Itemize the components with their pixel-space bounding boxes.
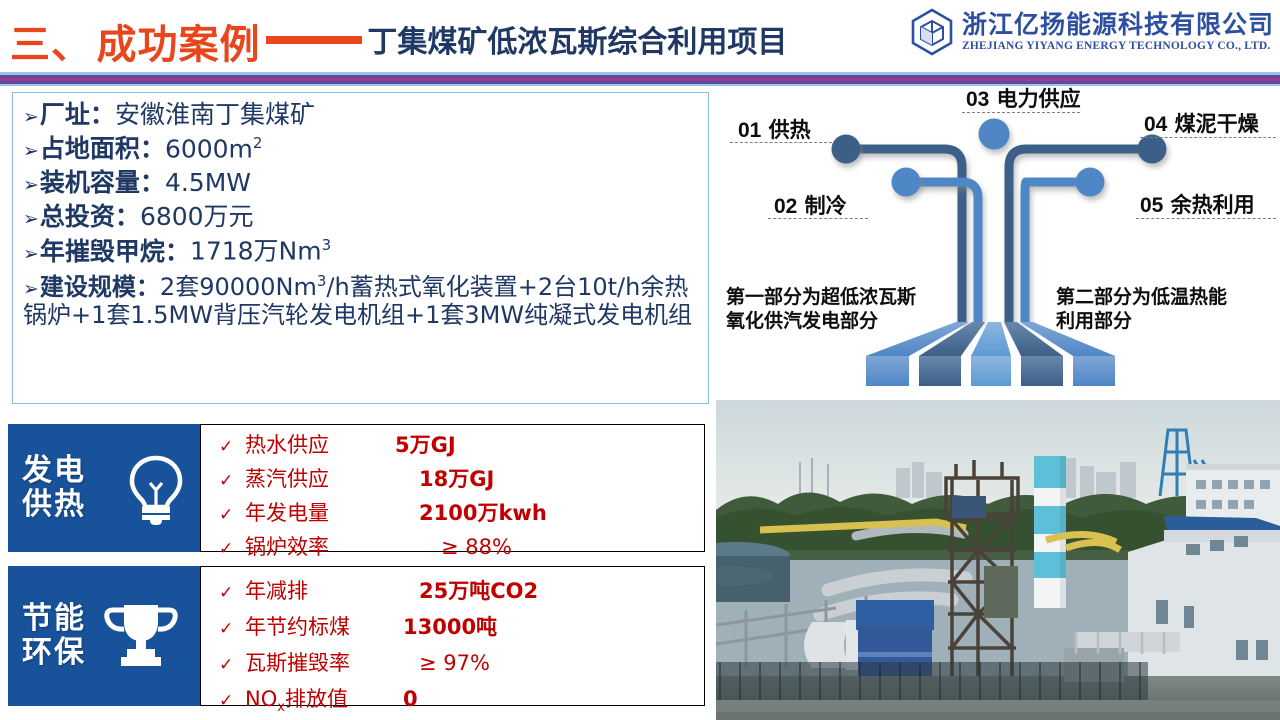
diagram-node-04	[1138, 135, 1167, 164]
diagram-label-03: 03 电力供应	[966, 86, 1081, 113]
bullet-arrow-icon: ➢	[23, 176, 39, 195]
metric-value: 18万GJ	[419, 469, 494, 490]
check-icon: ✓	[219, 693, 245, 710]
info-row-site: ➢ 厂址： 安徽淮南丁集煤矿	[23, 102, 698, 127]
metric-name: 热水供应	[245, 435, 395, 456]
metric-value: 5万GJ	[395, 435, 456, 456]
panel-body-energy-env: ✓ 年减排 25万吨CO2 ✓ 年节约标煤 13000吨 ✓ 瓦斯摧毁率 ≥ 9…	[200, 566, 705, 706]
panel-tag-label: 节能 环保	[22, 602, 86, 669]
metric-row: ✓ 瓦斯摧毁率 ≥ 97%	[219, 653, 704, 674]
company-name-cn: 浙江亿扬能源科技有限公司	[962, 12, 1274, 38]
check-icon: ✓	[219, 657, 245, 674]
header-divider-rule	[0, 72, 1280, 86]
metric-value: ≥ 97%	[419, 653, 490, 674]
title-dash-rule	[266, 36, 362, 44]
process-branch-diagram: 01 供热 02 制冷 03 电力供应 04 煤泥干燥 05 余热利用 第一部分…	[716, 86, 1280, 400]
diagram-label-04: 04 煤泥干燥	[1144, 108, 1259, 138]
slide-root: 三、 成功案例 丁集煤矿低浓瓦斯综合利用项目 浙江亿扬能源科技有限公司 ZHEJ…	[0, 0, 1280, 720]
check-icon: ✓	[219, 621, 245, 638]
metrics-panel-power-heat: 发电 供热 ✓ 热水供应 5万GJ ✓ 蒸汽供应	[8, 424, 708, 552]
company-name-block: 浙江亿扬能源科技有限公司 ZHEJIANG YIYANG ENERGY TECH…	[962, 12, 1274, 52]
diagram-note-right-line2: 利用部分	[1056, 310, 1227, 334]
info-value-part1: 2套90000Nm	[160, 273, 317, 301]
diagram-underline-01	[730, 142, 832, 143]
metric-name: 瓦斯摧毁率	[245, 653, 395, 674]
slide-header: 三、 成功案例 丁集煤矿低浓瓦斯综合利用项目 浙江亿扬能源科技有限公司 ZHEJ…	[0, 0, 1280, 72]
metric-row: ✓ NOx排放值 0	[219, 689, 704, 714]
diagram-underline-03	[962, 112, 1080, 113]
metric-name: 年减排	[245, 581, 395, 602]
panel-body-power-heat: ✓ 热水供应 5万GJ ✓ 蒸汽供应 18万GJ ✓ 年发电量 2100万kwh…	[200, 424, 705, 552]
info-value-sup: 2	[253, 134, 263, 152]
info-row-capacity: ➢ 装机容量： 4.5MW	[23, 170, 698, 195]
bullet-arrow-icon: ➢	[23, 142, 39, 161]
bullet-arrow-icon: ➢	[23, 210, 39, 229]
check-icon: ✓	[219, 507, 245, 524]
industrial-plant-photo	[716, 400, 1280, 720]
metric-name: NOx排放值	[245, 689, 395, 714]
panel-tag-line1: 发电	[22, 454, 86, 488]
diagram-node-05	[1076, 168, 1105, 197]
info-label: 厂址：	[40, 102, 115, 127]
panel-tag-energy-env: 节能 环保	[8, 566, 200, 706]
diagram-label-01: 01 供热	[738, 114, 811, 144]
info-value: 安徽淮南丁集煤矿	[115, 102, 315, 127]
diagram-label-05: 05 余热利用	[1140, 189, 1255, 219]
diagram-note-left-line2: 氧化供汽发电部分	[726, 310, 916, 334]
panel-tag-line1: 节能	[22, 602, 86, 636]
page-title: 三、 成功案例 丁集煤矿低浓瓦斯综合利用项目	[10, 12, 787, 70]
diagram-note-left: 第一部分为超低浓瓦斯 氧化供汽发电部分	[726, 286, 916, 334]
info-row-methane: ➢ 年摧毁甲烷： 1718万Nm3	[23, 238, 698, 263]
metric-value: 25万吨CO2	[419, 581, 538, 602]
metric-row: ✓ 锅炉效率 ≥ 88%	[219, 537, 704, 558]
bullet-arrow-icon: ➢	[23, 278, 39, 300]
metric-value: 13000吨	[403, 617, 497, 638]
section-number: 三、	[10, 22, 92, 68]
check-icon: ✓	[219, 473, 245, 490]
trophy-icon	[100, 602, 182, 673]
info-value: 6800万元	[140, 204, 254, 229]
check-icon: ✓	[219, 439, 245, 456]
metric-row: ✓ 年减排 25万吨CO2	[219, 581, 704, 602]
metric-row: ✓ 年节约标煤 13000吨	[219, 617, 704, 638]
lightbulb-icon	[126, 454, 186, 531]
check-icon: ✓	[219, 585, 245, 602]
diagram-underline-04	[1140, 137, 1276, 138]
metric-name: 蒸汽供应	[245, 469, 395, 490]
diagram-note-left-line1: 第一部分为超低浓瓦斯	[726, 286, 916, 310]
bullet-arrow-icon: ➢	[23, 108, 39, 127]
metric-row: ✓ 蒸汽供应 18万GJ	[219, 469, 704, 490]
info-label: 装机容量：	[40, 170, 165, 195]
info-value: 1718万Nm3	[190, 238, 331, 263]
info-label: 年摧毁甲烷：	[40, 239, 190, 264]
info-value-sup: 3	[322, 236, 332, 254]
info-row-scale: ➢建设规模：2套90000Nm3/h蓄热式氧化装置+2台10t/h余热锅炉+1套…	[23, 273, 698, 330]
metric-row: ✓ 热水供应 5万GJ	[219, 435, 704, 456]
bullet-arrow-icon: ➢	[23, 245, 39, 264]
project-info-box: ➢ 厂址： 安徽淮南丁集煤矿 ➢ 占地面积： 6000m2 ➢ 装机容量： 4.…	[12, 92, 709, 404]
panel-tag-power-heat: 发电 供热	[8, 424, 200, 552]
panel-tag-label: 发电 供热	[22, 454, 86, 521]
info-row-investment: ➢ 总投资： 6800万元	[23, 204, 698, 229]
diagram-note-right: 第二部分为低温热能 利用部分	[1056, 286, 1227, 334]
info-value: 4.5MW	[165, 170, 251, 195]
panel-tag-line2: 环保	[22, 636, 86, 670]
info-value: 6000m2	[165, 136, 263, 161]
metric-value: ≥ 88%	[441, 537, 512, 558]
hexagon-cube-logo-icon	[910, 8, 954, 56]
metric-row: ✓ 年发电量 2100万kwh	[219, 503, 704, 524]
info-label: 总投资：	[40, 204, 140, 229]
diagram-node-03	[979, 119, 1010, 150]
info-label: 建设规模：	[40, 273, 160, 301]
diagram-label-02: 02 制冷	[774, 190, 847, 220]
section-title: 成功案例	[96, 22, 260, 68]
metric-name: 年节约标煤	[245, 617, 395, 638]
metric-value: 0	[403, 689, 418, 710]
info-row-area: ➢ 占地面积： 6000m2	[23, 136, 698, 161]
metric-name: 年发电量	[245, 503, 395, 524]
check-icon: ✓	[219, 541, 245, 558]
diagram-node-02	[892, 168, 921, 197]
metrics-panel-energy-env: 节能 环保 ✓ 年减排 25万吨CO2 ✓	[8, 566, 708, 706]
info-value-sup: 3	[317, 272, 327, 290]
diagram-note-right-line1: 第二部分为低温热能	[1056, 286, 1227, 310]
company-name-en: ZHEJIANG YIYANG ENERGY TECHNOLOGY CO., L…	[962, 40, 1274, 52]
diagram-underline-05	[1136, 218, 1276, 219]
diagram-node-01	[832, 135, 861, 164]
panel-tag-line2: 供热	[22, 488, 86, 522]
section-subtitle: 丁集煤矿低浓瓦斯综合利用项目	[367, 25, 787, 60]
metric-value: 2100万kwh	[419, 503, 547, 524]
info-label: 占地面积：	[40, 136, 165, 161]
diagram-underline-02	[768, 218, 868, 219]
company-logo: 浙江亿扬能源科技有限公司 ZHEJIANG YIYANG ENERGY TECH…	[910, 8, 1274, 56]
metric-name: 锅炉效率	[245, 537, 395, 558]
